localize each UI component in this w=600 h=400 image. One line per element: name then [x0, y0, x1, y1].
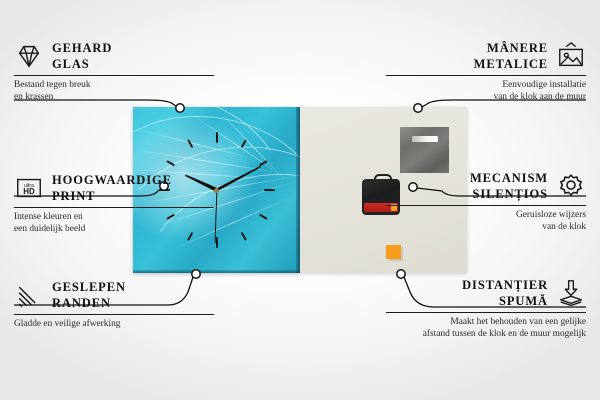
foam-spacer — [386, 245, 401, 259]
feature-description: Maakt het behouden van een gelijke afsta… — [386, 316, 586, 341]
press-down-layers-icon — [556, 278, 586, 308]
feature-title: GESLEPEN RANDEN — [52, 279, 126, 311]
feature-heading: GESLEPEN RANDEN — [14, 279, 214, 311]
feature-description: Bestand tegen breuk en krassen — [14, 79, 214, 104]
feature-tempered-glass: GEHARD GLAS Bestand tegen breuk en krass… — [14, 40, 214, 104]
feature-description: Geruisloze wijzers van de klok — [386, 209, 586, 234]
picture-frame-hanger-icon — [556, 41, 586, 71]
feature-title: DISTANȚIER SPUMĂ — [462, 277, 548, 309]
feature-heading: GEHARD GLAS — [14, 40, 214, 72]
feature-title: GEHARD GLAS — [52, 40, 112, 72]
clock-tick — [217, 189, 275, 191]
svg-text:HD: HD — [23, 187, 35, 196]
feature-metal-handles: MÂNERE METALICE Eenvoudige installatie v… — [386, 40, 586, 104]
feature-heading: DISTANȚIER SPUMĂ — [386, 277, 586, 309]
feature-title: HOOGWAARDIGE PRINT — [52, 172, 172, 204]
clock-tick — [216, 132, 218, 190]
feature-foam-spacer: DISTANȚIER SPUMĂ Maakt het behouden van … — [386, 277, 586, 341]
hanger-slot — [412, 136, 438, 142]
diamond-icon — [14, 41, 44, 71]
feature-silent-mechanism: MECANISM SILENȚIOS Geruisloze wijzers va… — [386, 170, 586, 234]
feature-divider — [386, 312, 586, 313]
clock-center-hub — [214, 188, 219, 193]
feature-description: Gladde en veilige afwerking — [14, 318, 214, 330]
feature-heading: MECANISM SILENȚIOS — [386, 170, 586, 202]
feature-beveled-edges: GESLEPEN RANDEN Gladde en veilige afwerk… — [14, 279, 214, 330]
metal-hanger-plate — [400, 127, 449, 173]
feature-divider — [386, 75, 586, 76]
feature-divider — [14, 75, 214, 76]
beveled-edges-icon — [14, 280, 44, 310]
feature-divider — [14, 314, 214, 315]
feature-title: MECANISM SILENȚIOS — [470, 170, 548, 202]
feature-heading: ultra HD HOOGWAARDIGE PRINT — [14, 172, 214, 204]
product-feature-infographic: GEHARD GLAS Bestand tegen breuk en krass… — [0, 0, 600, 400]
gear-icon — [556, 171, 586, 201]
ultra-hd-icon: ultra HD — [14, 173, 44, 203]
glass-bottom-edge — [133, 270, 300, 273]
feature-divider — [386, 205, 586, 206]
feature-divider — [14, 207, 214, 208]
feature-description: Eenvoudige installatie van de klok aan d… — [386, 79, 586, 104]
feature-high-quality-print: ultra HD HOOGWAARDIGE PRINT Intense kleu… — [14, 172, 214, 236]
feature-title: MÂNERE METALICE — [474, 40, 548, 72]
feature-heading: MÂNERE METALICE — [386, 40, 586, 72]
feature-description: Intense kleuren en een duidelijk beeld — [14, 211, 214, 236]
